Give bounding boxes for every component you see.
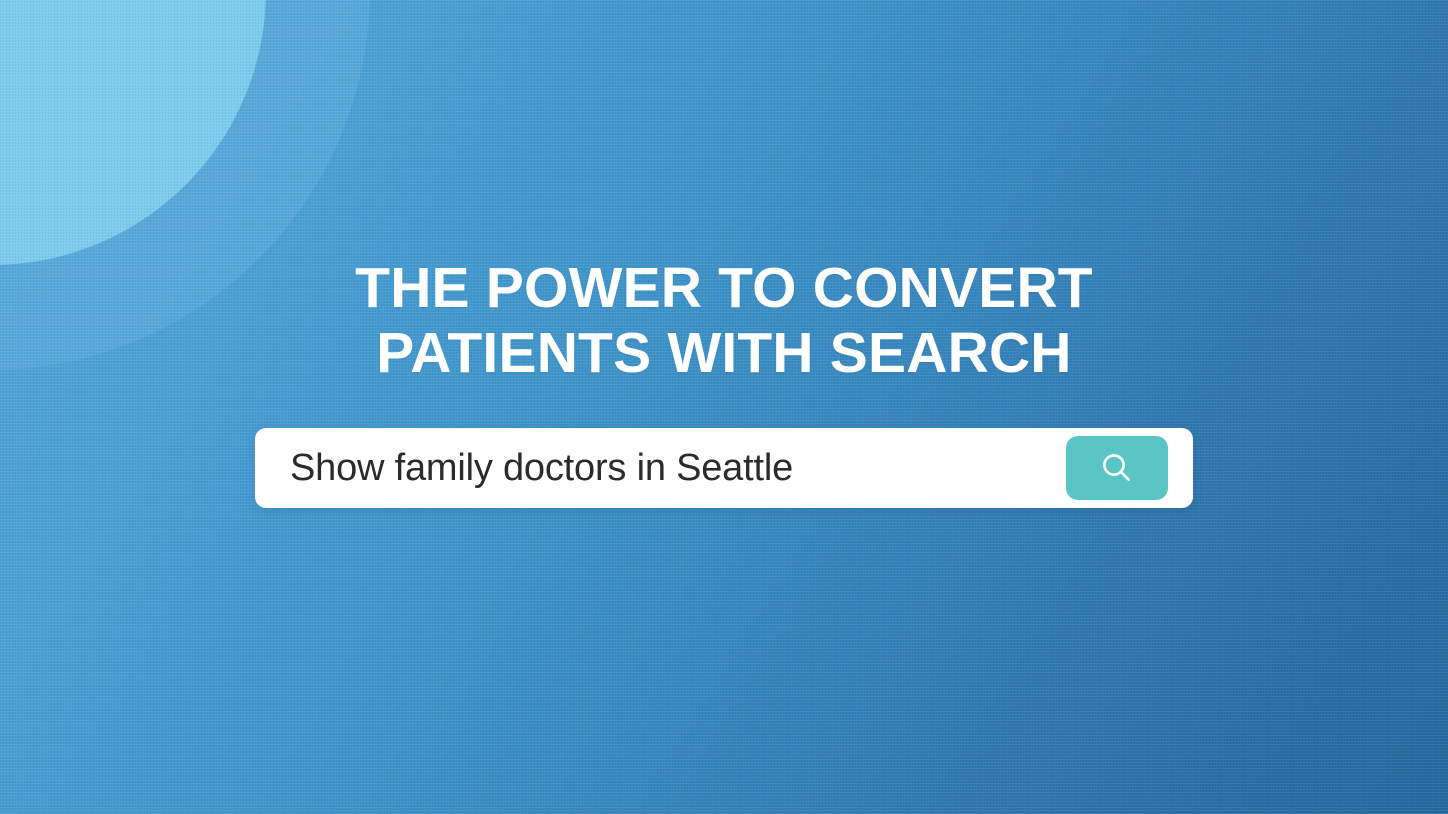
search-button[interactable] (1066, 436, 1168, 500)
decorative-circle-inner (0, 0, 266, 265)
search-icon (1097, 448, 1137, 488)
background-texture-overlay (0, 0, 1448, 814)
page-title-line-2: PATIENTS WITH SEARCH (0, 321, 1448, 386)
page-title: THE POWER TO CONVERT PATIENTS WITH SEARC… (0, 256, 1448, 386)
search-input[interactable] (290, 447, 1066, 490)
hero-banner: THE POWER TO CONVERT PATIENTS WITH SEARC… (0, 0, 1448, 814)
search-bar[interactable] (255, 428, 1193, 508)
page-title-line-1: THE POWER TO CONVERT (0, 256, 1448, 321)
